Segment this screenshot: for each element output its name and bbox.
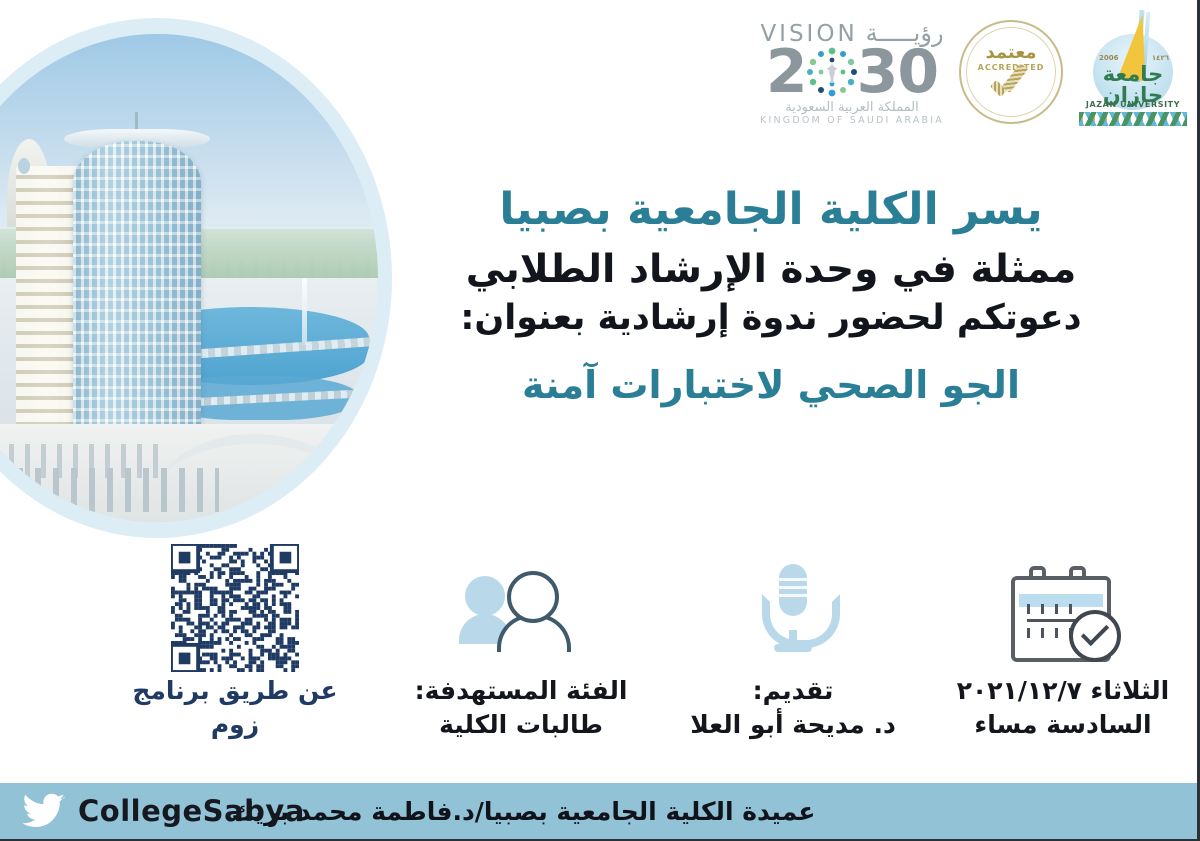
seal-checkmark-icon	[989, 75, 1033, 101]
twitter-handle-label[interactable]: CollegeSabya	[78, 794, 305, 828]
qr-code-image[interactable]	[171, 544, 299, 672]
seal-label-en: ACCREDITED	[978, 63, 1045, 72]
photo-podium-windows	[0, 468, 219, 512]
audience-label: الفئة المستهدفة:	[415, 674, 628, 708]
qr-code-icon[interactable]	[171, 544, 299, 672]
jazan-university-logo: 2006 ١٤٢٦ جامعة جازان JAZAN UNIVERSITY	[1077, 8, 1189, 136]
two-people-icon	[459, 558, 583, 666]
jazan-name-en: JAZAN UNIVERSITY	[1081, 100, 1185, 109]
vision-kingdom-en: KINGDOM OF SAUDI ARABIA	[760, 115, 944, 126]
vision-starburst-icon	[805, 45, 859, 99]
vision-2030-logo: VISION رؤيـــــة 2	[759, 19, 945, 126]
vision-kingdom-ar: المملكة العربية السعودية	[785, 100, 918, 115]
headline-line-1: يسر الكلية الجامعية بصبيا	[363, 184, 1179, 236]
info-speaker-column: تقديم: د. مديحة أبو العلا	[657, 552, 929, 784]
mic-base	[774, 644, 812, 652]
mic-grille-line	[779, 578, 807, 581]
audience-value: طالبات الكلية	[415, 708, 628, 742]
headline-line-2: ممثلة في وحدة الإرشاد الطلابي	[363, 246, 1179, 294]
mic-grille-line	[779, 586, 807, 589]
seminar-title: الجو الصحي لاختبارات آمنة	[363, 363, 1179, 409]
date-line-1: الثلاثاء ٢٠٢١/١٢/٧	[957, 674, 1169, 708]
info-audience-column: الفئة المستهدفة: طالبات الكلية	[385, 552, 657, 784]
vision-num-2: 2	[766, 45, 807, 99]
headline-block: يسر الكلية الجامعية بصبيا ممثلة في وحدة …	[363, 184, 1179, 408]
platform-line-1: عن طريق برنامج	[132, 674, 337, 708]
date-line-2: السادسة مساء	[957, 708, 1169, 742]
photo-circle	[0, 34, 378, 522]
footer-bar: CollegeSabya عميدة الكلية الجامعية بصبيا…	[0, 783, 1197, 839]
photo-fountain	[302, 278, 307, 346]
info-row: الثلاثاء ٢٠٢١/١٢/٧ السادسة مساء تقديم:	[0, 552, 1197, 784]
vision-num-30: 30	[857, 45, 939, 99]
logo-strip: VISION رؤيـــــة 2	[759, 8, 1189, 136]
mic-arc	[762, 594, 840, 648]
platform-line-2: زوم	[132, 708, 337, 742]
speaker-name: د. مديحة أبو العلا	[690, 708, 896, 742]
twitter-bird-icon[interactable]	[22, 793, 66, 829]
info-platform-column: عن طريق برنامج زوم	[85, 552, 385, 686]
calendar-check-icon	[1011, 558, 1115, 666]
jazan-wave-pattern	[1079, 112, 1187, 126]
headline-line-3: دعوتكم لحضور ندوة إرشادية بعنوان:	[363, 297, 1179, 340]
jazan-year-gregorian: 2006	[1099, 54, 1118, 62]
photo-side-block	[16, 166, 82, 439]
info-date-column: الثلاثاء ٢٠٢١/١٢/٧ السادسة مساء	[929, 552, 1197, 784]
seal-label-ar: معتمد	[985, 44, 1036, 62]
twitter-handle-group[interactable]: CollegeSabya	[0, 793, 305, 829]
check-circle-icon	[1069, 610, 1121, 662]
building-photo	[0, 18, 392, 538]
person-front-head	[507, 571, 559, 623]
poster-root: VISION رؤيـــــة 2	[0, 0, 1200, 841]
photo-glass-tower	[73, 141, 201, 444]
speaker-label: تقديم:	[690, 674, 896, 708]
jazan-year-hijri: ١٤٢٦	[1152, 54, 1169, 62]
microphone-icon	[756, 558, 830, 666]
person-back-head	[465, 576, 505, 616]
accreditation-seal: معتمد ACCREDITED	[959, 20, 1063, 124]
